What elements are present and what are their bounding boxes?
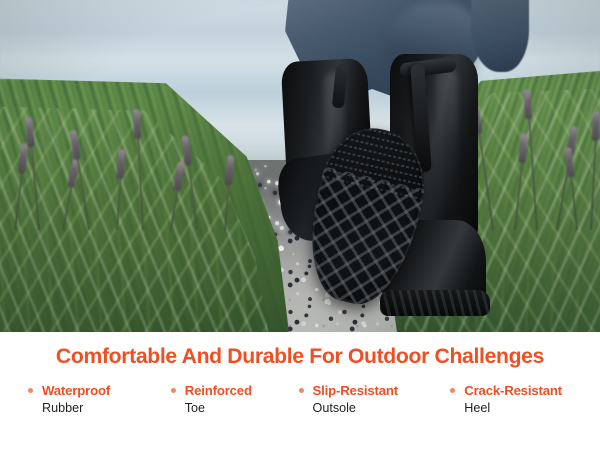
feature-info-panel: Comfortable And Durable For Outdoor Chal… — [0, 332, 600, 450]
boot-shaft-highlight — [436, 68, 458, 218]
feature-item-crack-resistant: Crack-Resistant Heel — [450, 383, 600, 417]
bullet-dot-icon — [171, 388, 176, 393]
bullet-dot-icon — [450, 388, 455, 393]
feature-item-waterproof: Waterproof Rubber — [28, 383, 171, 417]
bullet-dot-icon — [28, 388, 33, 393]
feature-list: Waterproof Rubber Reinforced Toe Slip-Re… — [0, 368, 600, 417]
bullet-dot-icon — [299, 388, 304, 393]
feature-title: Slip-Resistant — [313, 383, 451, 399]
feature-item-slip-resistant: Slip-Resistant Outsole — [299, 383, 451, 417]
headline: Comfortable And Durable For Outdoor Chal… — [5, 332, 596, 368]
feature-title: Reinforced — [185, 383, 299, 399]
hero-product-photo — [0, 0, 600, 332]
feature-subtitle: Outsole — [313, 398, 451, 416]
feature-item-reinforced: Reinforced Toe — [171, 383, 299, 417]
rubber-boot-lifted — [278, 60, 410, 300]
product-feature-banner: Comfortable And Durable For Outdoor Chal… — [0, 0, 600, 450]
feature-title: Crack-Resistant — [464, 383, 600, 399]
feature-subtitle: Heel — [464, 398, 600, 416]
feature-subtitle: Toe — [185, 398, 299, 416]
feature-title: Waterproof — [42, 383, 171, 399]
feature-subtitle: Rubber — [42, 398, 171, 416]
